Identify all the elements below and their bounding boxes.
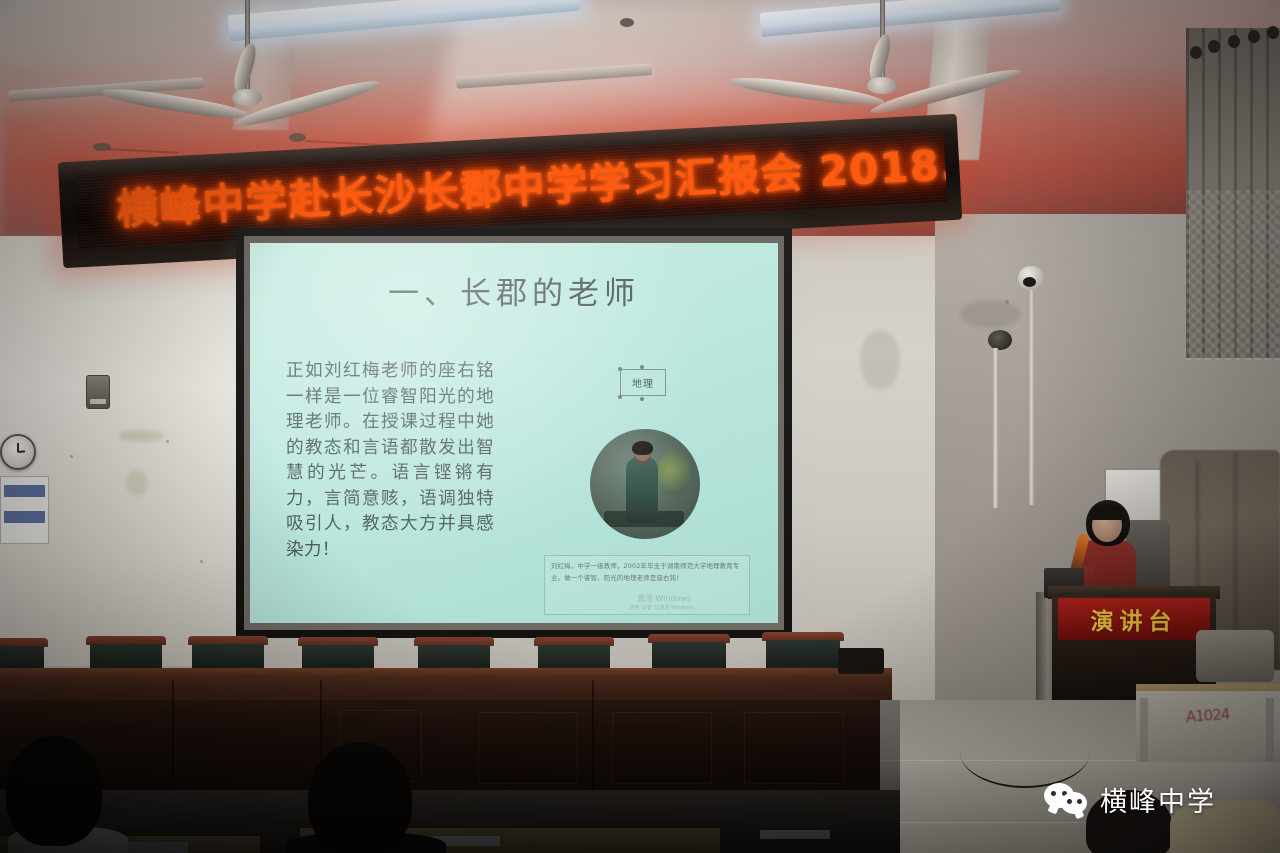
wall-scuff-3: [860, 330, 900, 390]
floor-cable: [960, 716, 1090, 788]
teacher-portrait-photo: [590, 429, 700, 539]
table-panel-5: [744, 712, 844, 784]
ceiling-fitting-2: [289, 133, 306, 142]
slide-subject-tag-label: 地理: [632, 375, 654, 390]
ceiling-fan-left: [150, 0, 450, 148]
wall-speck-3: [200, 560, 203, 563]
drape-fold-2: [1234, 452, 1237, 652]
slide-title: 一、长郡的老师: [250, 279, 778, 310]
ceiling-fitting-1: [93, 143, 111, 151]
wall-scuff-4: [960, 300, 1020, 328]
table-panel-4: [612, 712, 712, 784]
security-camera-icon: [1018, 266, 1044, 290]
ceiling-fitting-3: [620, 18, 634, 27]
presentation-slide: 一、长郡的老师 正如刘红梅老师的座右铭一样是一位睿智阳光的地理老师。在授课过程中…: [250, 243, 778, 623]
selection-handle-bm: [640, 397, 644, 401]
wall-conduit-2: [1029, 290, 1034, 505]
selection-handle-bl: [618, 395, 622, 399]
wall-speck-4: [1005, 300, 1009, 304]
trash-bin: [1196, 630, 1274, 682]
wechat-watermark: 横峰中学: [1044, 780, 1216, 819]
slide-caption-box: 刘红梅，中学一级教师，2002年毕业于湖南师范大学地理教育专业。做一个睿智、阳光…: [544, 555, 750, 615]
wall-scuff-1: [118, 430, 164, 442]
left-wall: [0, 236, 250, 666]
wall-light-fixture: [988, 330, 1012, 350]
desk-graffiti-text: A1024: [1185, 704, 1242, 730]
wall-clock: [0, 434, 36, 470]
windows-activation-watermark: 激活 Windows 转到“设置”以激活 Windows。: [589, 593, 739, 613]
slide-caption-text: 刘红梅，中学一级教师，2002年毕业于湖南师范大学地理教育专业。做一个睿智、阳光…: [551, 561, 743, 585]
foreground-paper-3: [760, 830, 830, 839]
table-seam-1: [172, 680, 174, 792]
wechat-icon: [1044, 783, 1090, 817]
wall-conduit-1: [993, 348, 998, 508]
watermark-line-2: 转到“设置”以激活 Windows。: [589, 605, 739, 613]
slide-subject-tag: 地理: [620, 369, 666, 396]
wechat-account-name: 横峰中学: [1100, 780, 1216, 819]
wall-notice-board: [0, 476, 49, 544]
wall-speck-1: [70, 455, 73, 458]
stage-equipment-box: [838, 648, 884, 674]
audience-head-2: [308, 742, 412, 853]
speaker-hair-fringe: [1090, 504, 1124, 520]
wall-speck-2: [166, 440, 169, 443]
podium-nameplate-label: 演讲台: [1091, 602, 1178, 636]
table-seam-3: [592, 680, 594, 792]
slide-body-text: 正如刘红梅老师的座右铭一样是一位睿智阳光的地理老师。在授课过程中她的教态和言语都…: [286, 359, 494, 563]
audience-head-1: [6, 736, 102, 846]
selection-handle-tm: [640, 365, 644, 369]
curtain-rings: [1186, 30, 1280, 52]
podium-nameplate: 演讲台: [1058, 598, 1210, 640]
wall-speaker: [86, 375, 110, 409]
selection-handle-tl: [618, 367, 622, 371]
wall-scuff-2: [126, 470, 148, 496]
watermark-line-1: 激活 Windows: [589, 593, 739, 605]
curtain-lace-pattern: [1186, 190, 1280, 360]
table-panel-3: [478, 712, 578, 784]
presentation-hall-photo: 横峰中学赴长沙长郡中学学习汇报会 2018.4.23 一、长郡的老师 正如刘红梅…: [0, 0, 1280, 853]
